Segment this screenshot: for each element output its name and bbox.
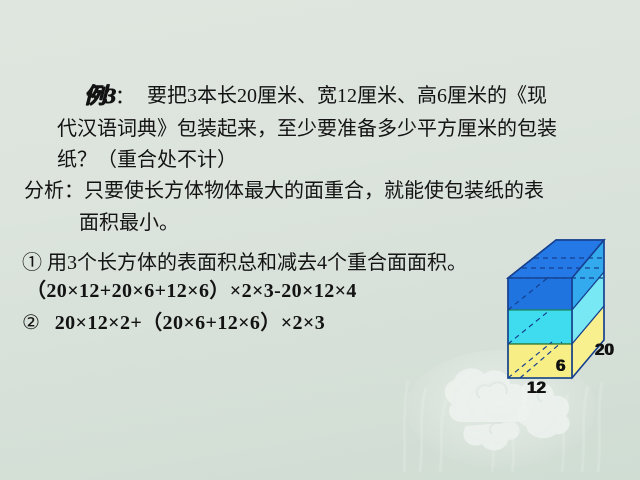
example-label-colon: ：: [115, 86, 135, 108]
prism-front-band-middle: [508, 310, 572, 344]
question-line-1: 要把3本长20厘米、宽12厘米、高6厘米的《现: [147, 79, 547, 108]
dimension-label-height: 6: [556, 356, 565, 376]
prism-front-band-top: [508, 278, 572, 310]
solution-1-expression: （20×12+20×6+12×6）×2×3-20×12×4: [26, 274, 357, 303]
analysis-line-1: 分析：只要使长方体物体最大的面重合，就能使包装纸的表: [24, 174, 544, 203]
solution-2-expression: 20×12×2+（20×6+12×6）×2×3: [55, 312, 325, 334]
question-line-2: 代汉语词典》包装起来，至少要准备多少平方厘米的包装: [57, 112, 557, 141]
dimension-label-width: 12: [527, 378, 546, 398]
solution-1-marker: ①: [22, 252, 42, 274]
solution-2: ② 20×12×2+（20×6+12×6）×2×3: [22, 306, 325, 335]
question-line-3: 纸？（重合处不计）: [57, 143, 237, 172]
example-label: 例3：: [84, 78, 135, 110]
dimension-label-length: 20: [595, 340, 614, 360]
example-label-text: 例3: [84, 83, 115, 108]
solution-1-text: 用3个长方体的表面积总和减去4个重合面面积。: [47, 252, 467, 274]
analysis-line-2: 面积最小。: [79, 206, 179, 235]
solution-2-marker: ②: [22, 312, 40, 334]
solution-1-description: ① 用3个长方体的表面积总和减去4个重合面面积。: [22, 246, 467, 275]
slide-canvas: 例3： 要把3本长20厘米、宽12厘米、高6厘米的《现 代汉语词典》包装起来，至…: [0, 0, 640, 480]
